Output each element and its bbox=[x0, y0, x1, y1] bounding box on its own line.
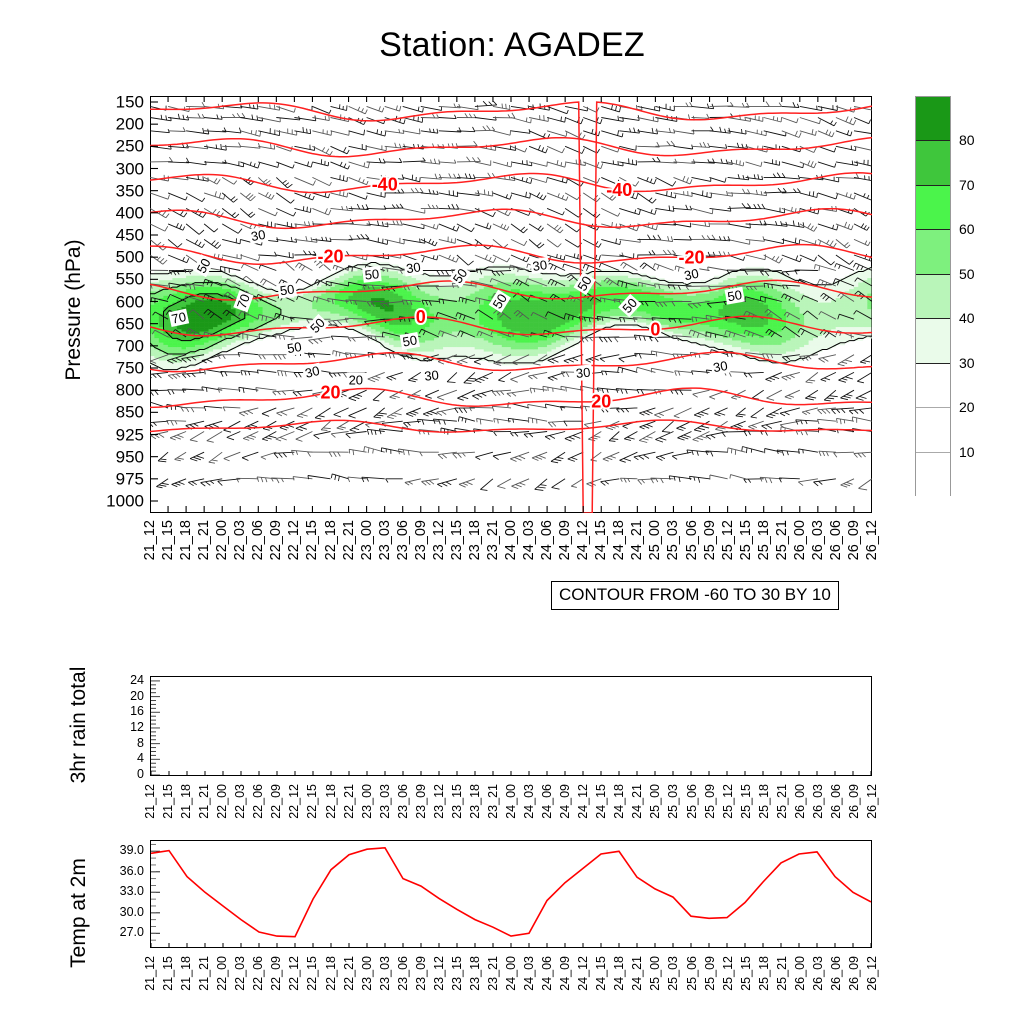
pressure-tick-250: 250 bbox=[116, 138, 144, 155]
pressure-axis-ticks: 1502002503003504004505005506006507007508… bbox=[0, 96, 144, 513]
time-tick-22_03: 22_03 bbox=[233, 956, 247, 991]
time-tick-26_06: 26_06 bbox=[828, 520, 844, 560]
time-tick-22_03: 22_03 bbox=[233, 784, 247, 819]
time-tick-26_12: 26_12 bbox=[865, 784, 879, 819]
pressure-tick-350: 350 bbox=[116, 182, 144, 199]
time-tick-26_09: 26_09 bbox=[846, 520, 862, 560]
time-tick-21_21: 21_21 bbox=[197, 956, 211, 991]
time-tick-21_18: 21_18 bbox=[179, 784, 193, 819]
time-tick-26_00: 26_00 bbox=[793, 956, 807, 991]
time-tick-24_12: 24_12 bbox=[576, 956, 590, 991]
time-tick-25_03: 25_03 bbox=[665, 520, 681, 560]
time-tick-26_12: 26_12 bbox=[865, 956, 879, 991]
cross-section-plot: -40-40-40-40-20-20-20-200000202020203050… bbox=[150, 96, 872, 513]
time-tick-23_18: 23_18 bbox=[467, 520, 483, 560]
time-tick-25_21: 25_21 bbox=[775, 956, 789, 991]
time-tick-22_12: 22_12 bbox=[287, 956, 301, 991]
time-tick-22_09: 22_09 bbox=[268, 520, 284, 560]
time-tick-25_06: 25_06 bbox=[684, 520, 700, 560]
time-tick-24_06: 24_06 bbox=[539, 520, 555, 560]
temp-tick-33.0: 33.0 bbox=[120, 884, 144, 898]
time-tick-26_06: 26_06 bbox=[829, 956, 843, 991]
pressure-tick-600: 600 bbox=[116, 293, 144, 310]
time-tick-24_00: 24_00 bbox=[504, 784, 518, 819]
temp-tick-27.0: 27.0 bbox=[120, 925, 144, 939]
temp-axis-ticks: 27.030.033.036.039.0 bbox=[60, 840, 148, 948]
time-tick-26_09: 26_09 bbox=[847, 956, 861, 991]
time-tick-21_18: 21_18 bbox=[179, 956, 193, 991]
pressure-tick-400: 400 bbox=[116, 204, 144, 221]
time-tick-25_12: 25_12 bbox=[721, 956, 735, 991]
pressure-tick-950: 950 bbox=[116, 448, 144, 465]
pressure-tick-700: 700 bbox=[116, 337, 144, 354]
time-axis-ticks-rain: 21_1221_1521_1821_2122_0022_0322_0622_09… bbox=[150, 780, 872, 842]
colorbar-label-30: 30 bbox=[959, 355, 975, 371]
time-tick-23_15: 23_15 bbox=[450, 956, 464, 991]
colorbar-label-10: 10 bbox=[959, 444, 975, 460]
time-tick-25_21: 25_21 bbox=[775, 784, 789, 819]
time-tick-25_06: 25_06 bbox=[685, 956, 699, 991]
colorbar-label-50: 50 bbox=[959, 266, 975, 282]
time-tick-26_09: 26_09 bbox=[847, 784, 861, 819]
time-tick-23_12: 23_12 bbox=[431, 520, 447, 560]
pressure-tick-925: 925 bbox=[116, 426, 144, 443]
time-tick-26_12: 26_12 bbox=[864, 520, 880, 560]
time-tick-24_03: 24_03 bbox=[522, 784, 536, 819]
time-tick-26_03: 26_03 bbox=[810, 520, 826, 560]
time-tick-25_09: 25_09 bbox=[703, 784, 717, 819]
time-tick-24_15: 24_15 bbox=[594, 784, 608, 819]
page-title: Station: AGADEZ bbox=[0, 26, 1024, 65]
pressure-tick-450: 450 bbox=[116, 227, 144, 244]
time-tick-21_12: 21_12 bbox=[143, 956, 157, 991]
chart-page: Station: AGADEZ Pressure (hPa) 150200250… bbox=[0, 0, 1024, 1024]
temp-tick-30.0: 30.0 bbox=[120, 905, 144, 919]
time-tick-25_00: 25_00 bbox=[648, 784, 662, 819]
rain-axis-ticks: 04812162024 bbox=[60, 676, 148, 776]
time-tick-25_00: 25_00 bbox=[648, 956, 662, 991]
time-tick-25_21: 25_21 bbox=[774, 520, 790, 560]
time-tick-24_00: 24_00 bbox=[503, 520, 519, 560]
pressure-tick-300: 300 bbox=[116, 160, 144, 177]
temp-plot bbox=[151, 841, 871, 947]
time-tick-24_15: 24_15 bbox=[593, 520, 609, 560]
pressure-tick-800: 800 bbox=[116, 382, 144, 399]
time-tick-22_03: 22_03 bbox=[232, 520, 248, 560]
pressure-tick-975: 975 bbox=[116, 470, 144, 487]
rain-tick-16: 16 bbox=[130, 704, 144, 718]
time-tick-21_18: 21_18 bbox=[178, 520, 194, 560]
colorbar-label-80: 80 bbox=[959, 132, 975, 148]
time-tick-25_15: 25_15 bbox=[738, 520, 754, 560]
time-tick-24_15: 24_15 bbox=[594, 956, 608, 991]
time-tick-21_15: 21_15 bbox=[161, 784, 175, 819]
time-tick-23_15: 23_15 bbox=[450, 784, 464, 819]
time-tick-22_12: 22_12 bbox=[287, 784, 301, 819]
time-tick-22_15: 22_15 bbox=[305, 784, 319, 819]
time-axis-ticks-main: 21_1221_1521_1821_2122_0022_0322_0622_09… bbox=[150, 516, 872, 586]
time-tick-24_06: 24_06 bbox=[540, 784, 554, 819]
time-tick-24_03: 24_03 bbox=[521, 520, 537, 560]
time-tick-23_15: 23_15 bbox=[449, 520, 465, 560]
temp-tick-36.0: 36.0 bbox=[120, 864, 144, 878]
time-tick-26_00: 26_00 bbox=[793, 784, 807, 819]
time-tick-24_06: 24_06 bbox=[540, 956, 554, 991]
colorbar-labels: 8070605040302010 bbox=[915, 96, 1005, 496]
pressure-tick-500: 500 bbox=[116, 249, 144, 266]
contour-note: CONTOUR FROM -60 TO 30 BY 10 bbox=[551, 581, 839, 610]
time-tick-24_12: 24_12 bbox=[576, 784, 590, 819]
time-tick-24_09: 24_09 bbox=[557, 520, 573, 560]
time-tick-23_18: 23_18 bbox=[468, 956, 482, 991]
rain-tick-20: 20 bbox=[130, 689, 144, 703]
pressure-tick-150: 150 bbox=[116, 94, 144, 111]
time-tick-24_18: 24_18 bbox=[611, 520, 627, 560]
time-tick-22_21: 22_21 bbox=[341, 520, 357, 560]
time-tick-23_03: 23_03 bbox=[378, 956, 392, 991]
rain-tick-24: 24 bbox=[130, 673, 144, 687]
rain-tick-4: 4 bbox=[137, 751, 144, 765]
time-tick-23_21: 23_21 bbox=[486, 784, 500, 819]
time-tick-22_21: 22_21 bbox=[342, 956, 356, 991]
cross-section-panel: -40-40-40-40-20-20-20-200000202020203050… bbox=[150, 96, 872, 513]
time-tick-22_09: 22_09 bbox=[269, 784, 283, 819]
time-tick-26_03: 26_03 bbox=[811, 956, 825, 991]
temp-panel-frame bbox=[150, 840, 872, 948]
time-tick-22_06: 22_06 bbox=[251, 784, 265, 819]
time-tick-22_18: 22_18 bbox=[324, 784, 338, 819]
time-tick-23_03: 23_03 bbox=[378, 784, 392, 819]
time-tick-22_06: 22_06 bbox=[251, 956, 265, 991]
time-tick-24_21: 24_21 bbox=[629, 520, 645, 560]
time-tick-23_09: 23_09 bbox=[413, 520, 429, 560]
rain-tick-8: 8 bbox=[137, 736, 144, 750]
time-tick-21_21: 21_21 bbox=[196, 520, 212, 560]
rain-tick-0: 0 bbox=[137, 767, 144, 781]
time-tick-24_09: 24_09 bbox=[558, 784, 572, 819]
time-tick-26_03: 26_03 bbox=[811, 784, 825, 819]
time-tick-22_00: 22_00 bbox=[214, 520, 230, 560]
time-tick-23_09: 23_09 bbox=[414, 784, 428, 819]
colorbar-label-40: 40 bbox=[959, 310, 975, 326]
time-tick-25_03: 25_03 bbox=[666, 784, 680, 819]
time-tick-24_18: 24_18 bbox=[612, 784, 626, 819]
time-tick-23_06: 23_06 bbox=[396, 956, 410, 991]
pressure-tick-550: 550 bbox=[116, 271, 144, 288]
time-tick-22_12: 22_12 bbox=[286, 520, 302, 560]
time-tick-24_21: 24_21 bbox=[630, 956, 644, 991]
time-tick-25_09: 25_09 bbox=[703, 956, 717, 991]
time-tick-25_12: 25_12 bbox=[721, 784, 735, 819]
time-tick-23_12: 23_12 bbox=[432, 956, 446, 991]
time-tick-23_12: 23_12 bbox=[432, 784, 446, 819]
time-tick-22_18: 22_18 bbox=[324, 956, 338, 991]
time-tick-22_18: 22_18 bbox=[323, 520, 339, 560]
time-tick-23_21: 23_21 bbox=[486, 956, 500, 991]
pressure-tick-850: 850 bbox=[116, 404, 144, 421]
time-tick-21_12: 21_12 bbox=[142, 520, 158, 560]
time-tick-22_00: 22_00 bbox=[215, 956, 229, 991]
temp-tick-39.0: 39.0 bbox=[120, 843, 144, 857]
time-tick-24_09: 24_09 bbox=[558, 956, 572, 991]
colorbar-label-20: 20 bbox=[959, 399, 975, 415]
time-tick-25_03: 25_03 bbox=[666, 956, 680, 991]
pressure-tick-650: 650 bbox=[116, 315, 144, 332]
pressure-tick-200: 200 bbox=[116, 116, 144, 133]
time-tick-22_15: 22_15 bbox=[304, 520, 320, 560]
time-tick-23_18: 23_18 bbox=[468, 784, 482, 819]
time-tick-25_15: 25_15 bbox=[739, 956, 753, 991]
time-tick-25_09: 25_09 bbox=[702, 520, 718, 560]
time-tick-21_15: 21_15 bbox=[161, 956, 175, 991]
time-tick-24_03: 24_03 bbox=[522, 956, 536, 991]
time-tick-22_15: 22_15 bbox=[305, 956, 319, 991]
time-tick-23_06: 23_06 bbox=[395, 520, 411, 560]
rain-tick-12: 12 bbox=[130, 720, 144, 734]
pressure-tick-750: 750 bbox=[116, 360, 144, 377]
colorbar-label-70: 70 bbox=[959, 177, 975, 193]
time-tick-25_15: 25_15 bbox=[739, 784, 753, 819]
time-tick-25_18: 25_18 bbox=[757, 784, 771, 819]
rain-plot bbox=[151, 677, 871, 775]
time-tick-26_06: 26_06 bbox=[829, 784, 843, 819]
time-tick-25_00: 25_00 bbox=[647, 520, 663, 560]
time-tick-21_21: 21_21 bbox=[197, 784, 211, 819]
time-axis-ticks-temp: 21_1221_1521_1821_2122_0022_0322_0622_09… bbox=[150, 952, 872, 1014]
pressure-tick-1000: 1000 bbox=[106, 493, 144, 510]
time-tick-25_06: 25_06 bbox=[685, 784, 699, 819]
time-tick-22_21: 22_21 bbox=[342, 784, 356, 819]
time-tick-21_15: 21_15 bbox=[160, 520, 176, 560]
time-tick-24_12: 24_12 bbox=[575, 520, 591, 560]
time-tick-24_21: 24_21 bbox=[630, 784, 644, 819]
time-tick-25_12: 25_12 bbox=[720, 520, 736, 560]
time-tick-24_18: 24_18 bbox=[612, 956, 626, 991]
time-tick-23_06: 23_06 bbox=[396, 784, 410, 819]
time-tick-24_00: 24_00 bbox=[504, 956, 518, 991]
time-tick-22_09: 22_09 bbox=[269, 956, 283, 991]
time-tick-23_21: 23_21 bbox=[485, 520, 501, 560]
time-tick-23_00: 23_00 bbox=[359, 520, 375, 560]
time-tick-25_18: 25_18 bbox=[757, 956, 771, 991]
time-tick-22_00: 22_00 bbox=[215, 784, 229, 819]
rain-panel-frame bbox=[150, 676, 872, 776]
time-tick-23_09: 23_09 bbox=[414, 956, 428, 991]
colorbar-label-60: 60 bbox=[959, 221, 975, 237]
time-tick-25_18: 25_18 bbox=[756, 520, 772, 560]
time-tick-21_12: 21_12 bbox=[143, 784, 157, 819]
time-tick-22_06: 22_06 bbox=[250, 520, 266, 560]
time-tick-23_00: 23_00 bbox=[360, 784, 374, 819]
time-tick-23_00: 23_00 bbox=[360, 956, 374, 991]
time-tick-26_00: 26_00 bbox=[792, 520, 808, 560]
time-tick-23_03: 23_03 bbox=[377, 520, 393, 560]
